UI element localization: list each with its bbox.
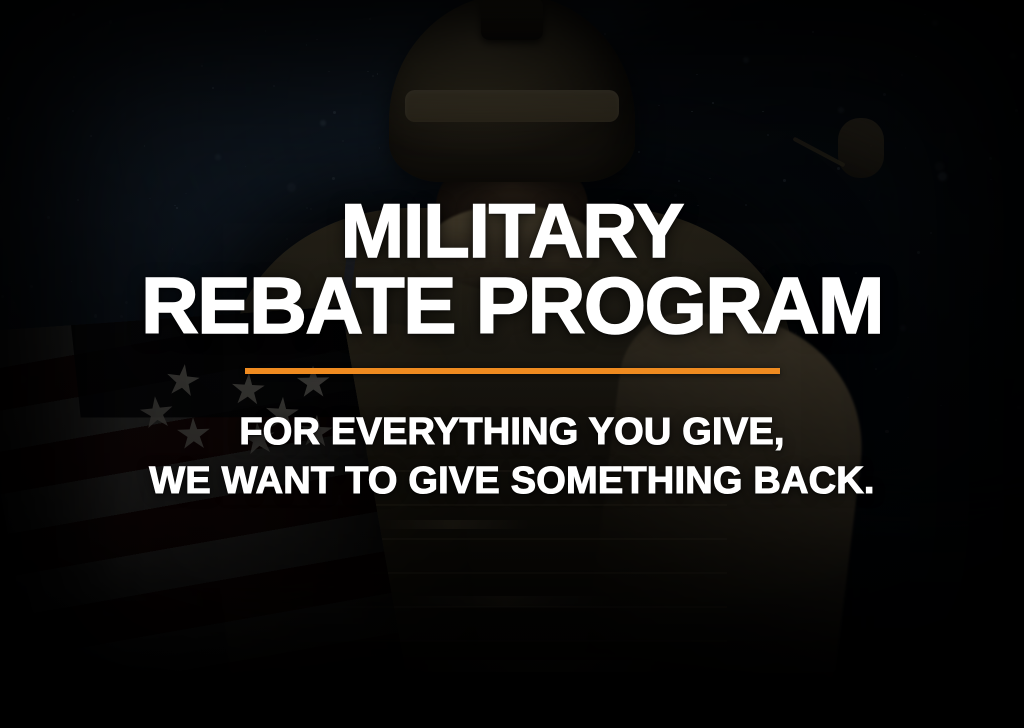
military-rebate-banner: MILITARY REBATE PROGRAM FOR EVERYTHING Y… xyxy=(0,0,1024,728)
headline-line-2: REBATE PROGRAM xyxy=(141,268,883,344)
subtitle-line-2: WE WANT TO GIVE SOMETHING BACK. xyxy=(149,457,874,506)
accent-divider xyxy=(245,368,780,374)
banner-subtitle: FOR EVERYTHING YOU GIVE, WE WANT TO GIVE… xyxy=(149,408,874,505)
subtitle-line-1: FOR EVERYTHING YOU GIVE, xyxy=(239,411,784,453)
banner-headline: MILITARY REBATE PROGRAM xyxy=(141,196,883,344)
banner-content: MILITARY REBATE PROGRAM FOR EVERYTHING Y… xyxy=(0,0,1024,728)
